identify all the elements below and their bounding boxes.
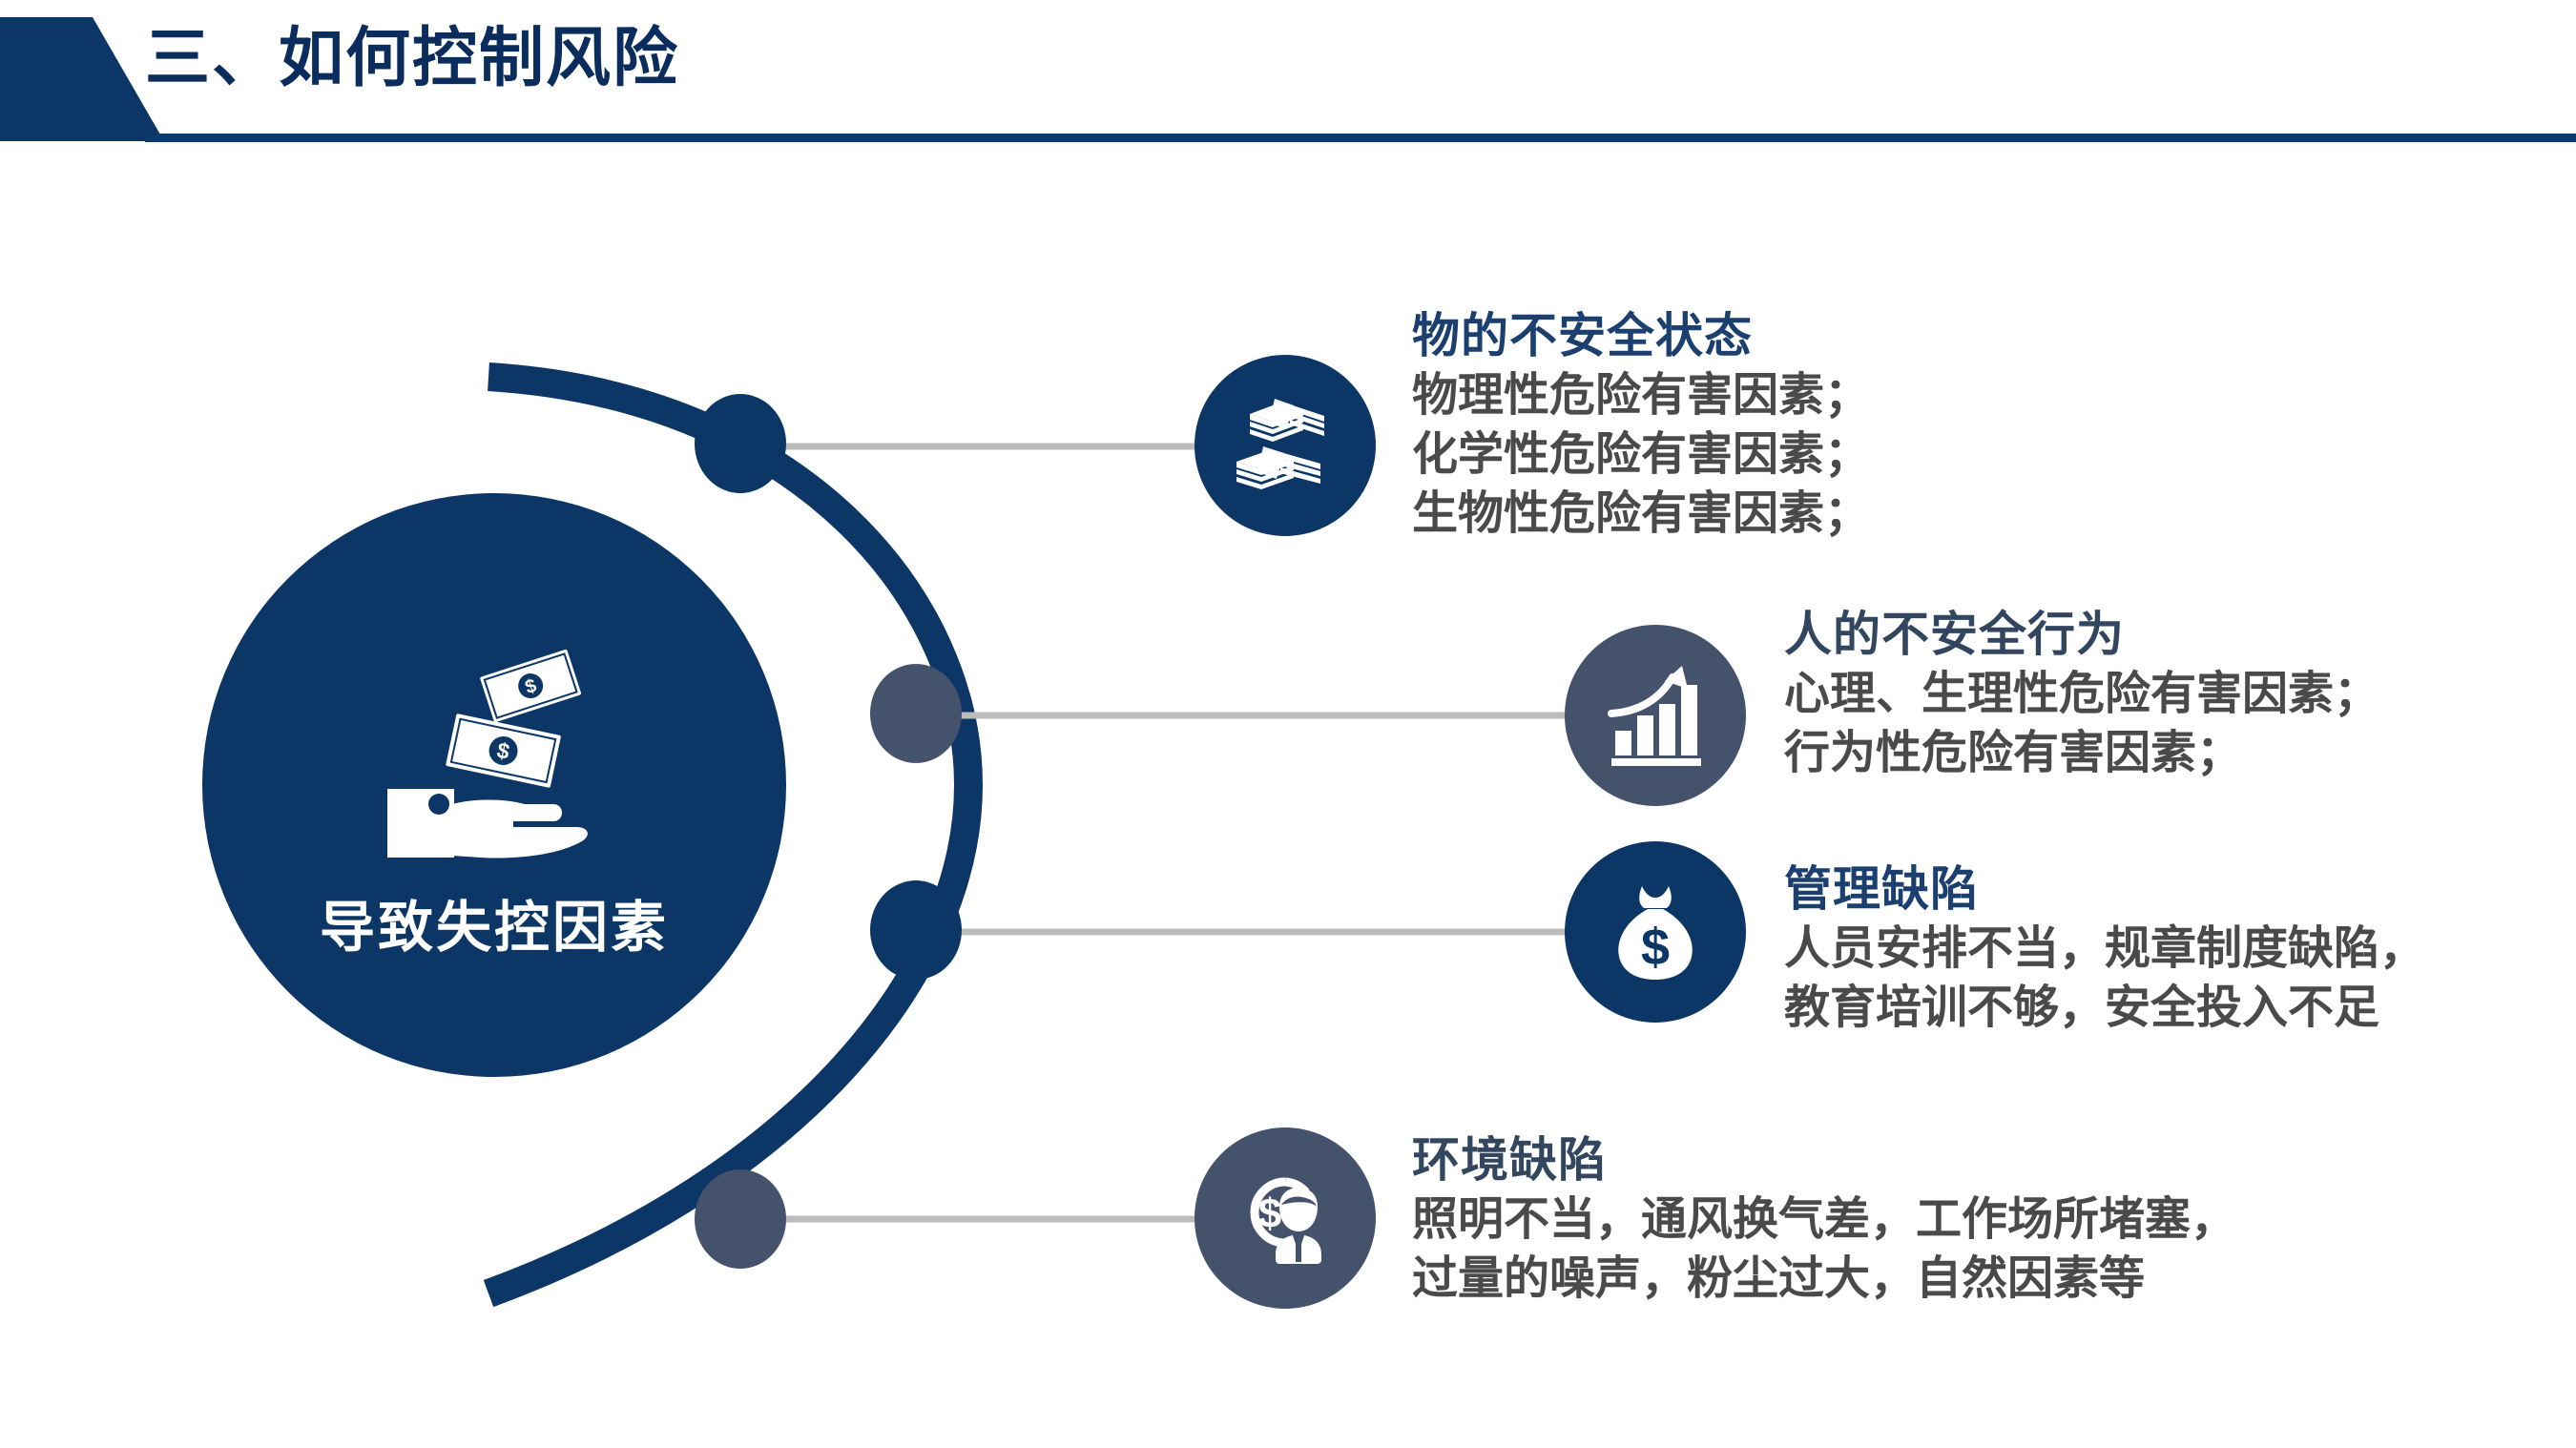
- branch-line: 教育培训不够，安全投入不足: [1784, 979, 2425, 1038]
- hand-catching-money-icon: $ $: [351, 636, 637, 865]
- branch-line: 心理、生理性危险有害因素；: [1784, 665, 2379, 724]
- arc-node-3: [695, 1169, 786, 1269]
- hub-circle[interactable]: $ $ 导致失控因素: [202, 493, 786, 1077]
- arc-node-1: [870, 664, 962, 763]
- branch-line: 过量的噪声，粉尘过大，自然因素等: [1412, 1250, 2236, 1309]
- hub-label: 导致失控因素: [202, 882, 786, 962]
- businessman-with-coin-icon: $: [1195, 1127, 1376, 1309]
- branch-line: 生物性危险有害因素；: [1412, 485, 1870, 544]
- svg-text:$: $: [1258, 1190, 1281, 1237]
- branch-text-block: 物的不安全状态 物理性危险有害因素； 化学性危险有害因素； 生物性危险有害因素；: [1412, 305, 1870, 544]
- branch-text-block: 环境缺陷 照明不当，通风换气差，工作场所堵塞， 过量的噪声，粉尘过大，自然因素等: [1412, 1129, 2236, 1309]
- branch-line: 照明不当，通风换气差，工作场所堵塞，: [1412, 1190, 2236, 1250]
- svg-text:$: $: [1641, 919, 1670, 976]
- branch-title: 物的不安全状态: [1412, 305, 1870, 366]
- growth-bar-chart-icon: [1565, 625, 1746, 806]
- slide-header: 三、如何控制风险: [0, 0, 2576, 153]
- branch-title: 管理缺陷: [1784, 858, 2425, 920]
- branch-line: 人员安排不当，规章制度缺陷，: [1784, 920, 2425, 979]
- branch-title: 环境缺陷: [1412, 1129, 2236, 1190]
- branch-text-block: 管理缺陷 人员安排不当，规章制度缺陷， 教育培训不够，安全投入不足: [1784, 858, 2425, 1038]
- branch-line: 化学性危险有害因素；: [1412, 425, 1870, 485]
- cash-stacks-icon: [1195, 355, 1376, 536]
- arc-node-2: [870, 880, 962, 980]
- branch-line: 物理性危险有害因素；: [1412, 366, 1870, 425]
- diagram-stage: $ $ 导致失控因素: [0, 153, 2576, 1448]
- header-divider: [145, 134, 2576, 142]
- branch-title: 人的不安全行为: [1784, 604, 2379, 665]
- branch-line: 行为性危险有害因素；: [1784, 724, 2379, 783]
- page-title: 三、如何控制风险: [145, 6, 679, 111]
- branch-text-block: 人的不安全行为 心理、生理性危险有害因素； 行为性危险有害因素；: [1784, 604, 2379, 783]
- arc-node-0: [695, 394, 786, 493]
- money-bag-icon: $: [1565, 841, 1746, 1023]
